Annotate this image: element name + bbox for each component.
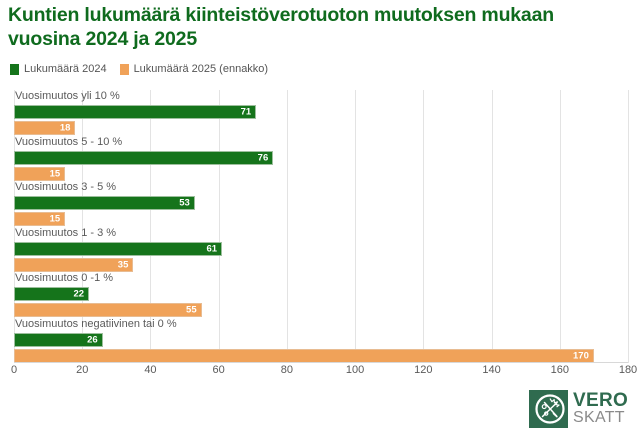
bar-value-label: 53 [179,198,190,208]
category-label: Vuosimuutos 5 - 10 % [15,136,122,148]
bar-2024[interactable]: 26 [14,333,103,347]
logo-skatt-text: SKATT [573,410,628,426]
bar-2025[interactable]: 35 [14,258,133,272]
bar-value-label: 22 [73,289,84,299]
x-tick-label: 120 [414,364,432,376]
bar-value-label: 15 [50,169,61,179]
bar-2024[interactable]: 53 [14,196,195,210]
category-label: Vuosimuutos 0 -1 % [15,272,113,284]
bar-2024[interactable]: 76 [14,151,273,165]
category-label: Vuosimuutos 1 - 3 % [15,227,116,239]
gridline [628,90,629,363]
category-label: Vuosimuutos yli 10 % [15,90,120,102]
vero-skatt-logo: VERO SKATT [529,390,628,428]
bar-2024[interactable]: 71 [14,105,256,119]
bar-2024[interactable]: 61 [14,242,222,256]
logo-emblem-icon [529,390,568,428]
bar-group: Vuosimuutos 5 - 10 %7615 [14,136,628,182]
legend-label-2025: Lukumäärä 2025 (ennakko) [134,63,269,75]
bar-2024[interactable]: 22 [14,287,89,301]
x-tick-label: 20 [76,364,88,376]
x-axis-line [14,362,628,363]
coat-of-arms-icon [535,394,565,424]
x-axis-tick-labels: 020406080100120140160180 [14,364,628,382]
bar-2025[interactable]: 55 [14,303,202,317]
bar-group: Vuosimuutos 1 - 3 %6135 [14,227,628,273]
x-tick-label: 140 [482,364,500,376]
legend-label-2024: Lukumäärä 2024 [24,63,107,75]
bar-2025[interactable]: 15 [14,167,65,181]
bar-group: Vuosimuutos 3 - 5 %5315 [14,181,628,227]
x-tick-label: 180 [619,364,637,376]
x-tick-label: 80 [281,364,293,376]
legend-item-2024[interactable]: Lukumäärä 2024 [10,63,107,75]
bar-value-label: 15 [50,214,61,224]
x-tick-label: 40 [144,364,156,376]
logo-vero-text: VERO [573,392,628,410]
page-title: Kuntien lukumäärä kiinteistöverotuoton m… [8,4,628,52]
x-tick-label: 0 [11,364,17,376]
chart-bar-groups: Vuosimuutos yli 10 %7118Vuosimuutos 5 - … [14,90,628,363]
bar-value-label: 55 [186,305,197,315]
bar-value-label: 61 [206,244,217,254]
x-tick-label: 160 [551,364,569,376]
bar-value-label: 76 [258,153,269,163]
bar-value-label: 26 [87,335,98,345]
category-label: Vuosimuutos negatiivinen tai 0 % [15,318,177,330]
bar-group: Vuosimuutos yli 10 %7118 [14,90,628,136]
legend-swatch-2024 [10,64,19,75]
bar-2025[interactable]: 15 [14,212,65,226]
legend-item-2025[interactable]: Lukumäärä 2025 (ennakko) [120,63,269,75]
category-label: Vuosimuutos 3 - 5 % [15,181,116,193]
chart-legend: Lukumäärä 2024 Lukumäärä 2025 (ennakko) [10,63,268,75]
bar-2025[interactable]: 170 [14,349,594,363]
bar-value-label: 18 [60,123,71,133]
chart-plot-area: Vuosimuutos yli 10 %7118Vuosimuutos 5 - … [14,90,628,363]
bar-value-label: 170 [573,351,589,361]
bar-2025[interactable]: 18 [14,121,75,135]
bar-value-label: 71 [241,107,252,117]
x-tick-label: 100 [346,364,364,376]
bar-group: Vuosimuutos 0 -1 %2255 [14,272,628,318]
x-tick-label: 60 [213,364,225,376]
logo-wordmark: VERO SKATT [573,392,628,426]
bar-group: Vuosimuutos negatiivinen tai 0 %26170 [14,318,628,364]
bar-value-label: 35 [118,260,129,270]
legend-swatch-2025 [120,64,129,75]
